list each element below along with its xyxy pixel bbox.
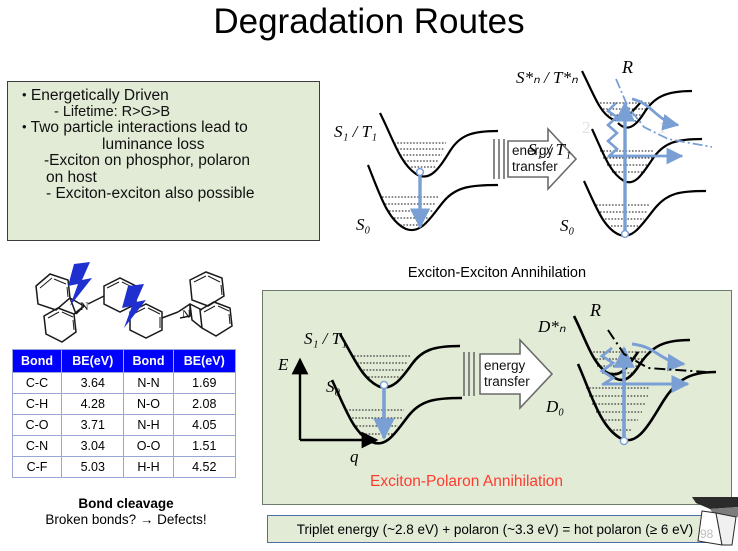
cell-bond-1: C-F	[13, 457, 62, 478]
cell-bond-2: H-H	[124, 457, 173, 478]
bullet-item-2: - Lifetime: R>G>B	[54, 105, 311, 121]
axis-group	[300, 360, 376, 440]
bullet-glyph: •	[22, 87, 27, 102]
label-R-bottom: R	[589, 300, 601, 320]
cell-be-1: 3.64	[62, 373, 124, 394]
cell-be-2: 4.05	[173, 415, 236, 436]
slide-canvas: Degradation Routes • Energetically Drive…	[0, 0, 738, 551]
label-sn-tn-hot: S*ₙ / T*ₙ	[516, 68, 578, 87]
table-header-bond-2: Bond	[124, 350, 173, 373]
table-row: C-H 4.28 N-O 2.08	[13, 394, 236, 415]
nitrogen-label-right: N	[182, 307, 191, 321]
cell-bond-1: C-O	[13, 415, 62, 436]
exciton-polaron-annihilation-diagram: E q S₁ / T₁ S₀	[264, 292, 730, 502]
cell-bond-2: N-N	[124, 373, 173, 394]
energy-balance-caption-text: Triplet energy (~2.8 eV) + polaron (~3.3…	[297, 522, 693, 537]
table-header-be-2: BE(eV)	[173, 350, 236, 373]
page-title: Degradation Routes	[0, 2, 738, 42]
corner-image-artifact	[692, 497, 738, 545]
energy-transfer-label-line2: transfer	[512, 159, 558, 174]
label-s0-left: S₀	[356, 215, 371, 234]
bullet-item-3: • Two particle interactions lead to	[22, 120, 311, 137]
bullet-item-1: • Energetically Driven	[22, 88, 311, 105]
label-s0-bottom-left: S₀	[326, 377, 341, 396]
table-row: C-C 3.64 N-N 1.69	[13, 373, 236, 394]
bond-cleavage-title: Bond cleavage	[12, 496, 240, 512]
table-header-bond-1: Bond	[13, 350, 62, 373]
molecular-structure-diagram: N N	[18, 258, 240, 350]
cell-bond-1: C-N	[13, 436, 62, 457]
cell-be-2: 2.08	[173, 394, 236, 415]
nitrogen-label-left: N	[80, 299, 89, 313]
bullet-item-3-label: Two particle interactions lead to	[31, 119, 248, 136]
bond-cleavage-caption: Bond cleavage Broken bonds? → Defects!	[12, 496, 240, 527]
label-dn-hot: D*ₙ	[537, 317, 566, 336]
cell-bond-2: O-O	[124, 436, 173, 457]
cell-bond-2: N-H	[124, 415, 173, 436]
cell-be-1: 4.28	[62, 394, 124, 415]
exciton-polaron-annihilation-label: Exciton-Polaron Annihilation	[370, 473, 563, 491]
axis-label-energy: E	[277, 355, 289, 374]
cell-be-2: 1.69	[173, 373, 236, 394]
label-R-top: R	[621, 57, 633, 77]
table-row: C-N 3.04 O-O 1.51	[13, 436, 236, 457]
page-number: 98	[700, 527, 713, 541]
bullet-item-1-label: Energetically Driven	[31, 87, 169, 104]
section-subtitle: Exciton-Exciton Annihilation	[262, 265, 732, 281]
label-s1-t1-left: S₁ / T₁	[334, 122, 377, 141]
table-header-row: Bond BE(eV) Bond BE(eV)	[13, 350, 236, 373]
bullet-item-5: -Exciton on phosphor, polaron	[44, 153, 311, 170]
bullet-item-6: on host	[46, 170, 311, 187]
exciton-exciton-annihilation-diagram: S₁ / T₁ S₀ energy transfer	[320, 55, 738, 255]
table-header-be-1: BE(eV)	[62, 350, 124, 373]
bond-cleavage-subtitle: Broken bonds? → Defects!	[12, 512, 240, 528]
bullet-glyph-2: •	[22, 119, 27, 134]
cell-be-2: 1.51	[173, 436, 236, 457]
cell-bond-1: C-H	[13, 394, 62, 415]
table-row: C-F 5.03 H-H 4.52	[13, 457, 236, 478]
bond-energy-table: Bond BE(eV) Bond BE(eV) C-C 3.64 N-N 1.6…	[12, 349, 236, 478]
cell-be-1: 3.71	[62, 415, 124, 436]
bullet-summary-box: • Energetically Driven - Lifetime: R>G>B…	[7, 81, 320, 241]
energy-balance-caption-box: Triplet energy (~2.8 eV) + polaron (~3.3…	[267, 515, 723, 543]
bullet-item-4: luminance loss	[102, 137, 311, 154]
energy-transfer-bottom-line1: energy	[484, 358, 526, 373]
axis-label-coordinate: q	[350, 447, 359, 466]
label-s1-t1-bottom-left: S₁ / T₁	[304, 329, 347, 348]
faint-label-2: 2	[582, 118, 591, 137]
cell-be-1: 5.03	[62, 457, 124, 478]
energy-transfer-bottom-line2: transfer	[484, 374, 530, 389]
table-row: C-O 3.71 N-H 4.05	[13, 415, 236, 436]
bullet-item-7: - Exciton-exciton also possible	[46, 186, 311, 203]
label-d0: D₀	[545, 397, 564, 416]
cell-be-2: 4.52	[173, 457, 236, 478]
label-s1-t1-right: S₁ / T₁	[528, 140, 571, 159]
cell-bond-1: C-C	[13, 373, 62, 394]
cell-be-1: 3.04	[62, 436, 124, 457]
cell-bond-2: N-O	[124, 394, 173, 415]
label-s0-right: S₀	[560, 216, 575, 235]
